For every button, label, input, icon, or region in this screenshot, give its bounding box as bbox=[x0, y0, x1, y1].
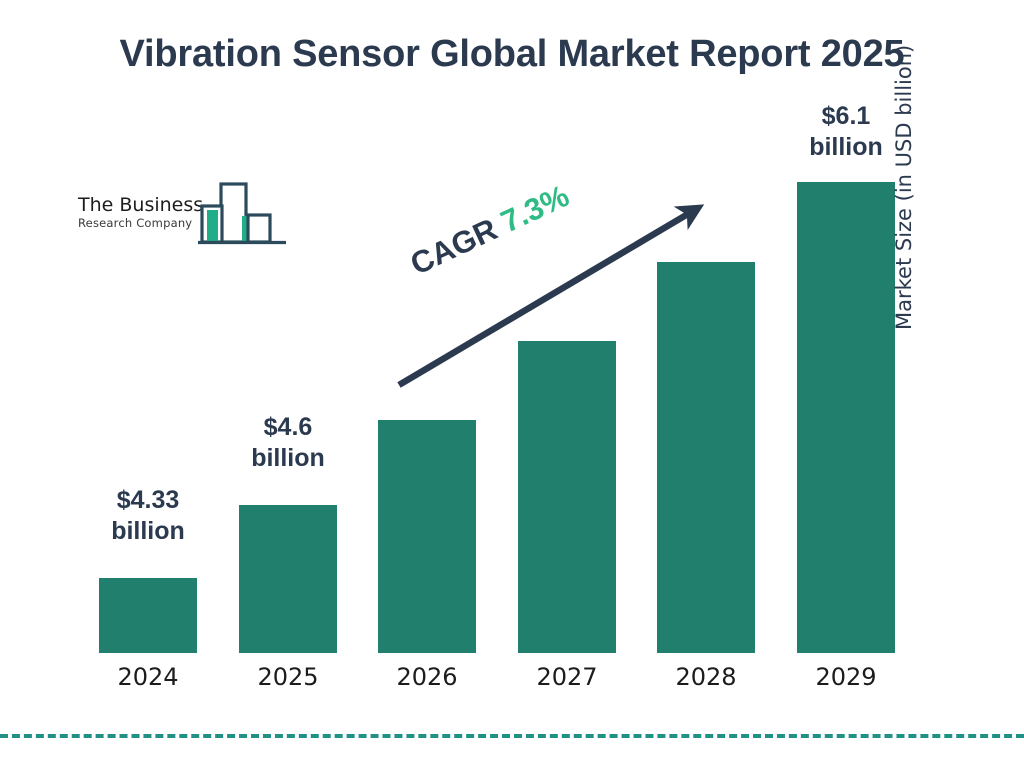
value-label-2024: $4.33 billion bbox=[83, 485, 213, 546]
x-axis-label-2027: 2027 bbox=[502, 663, 632, 691]
bar-2026 bbox=[378, 420, 476, 653]
x-axis-label-2025: 2025 bbox=[223, 663, 353, 691]
value-label-2025: $4.6 billion bbox=[223, 412, 353, 473]
plot-area: $4.33 billion $4.6 billion $6.1 billion … bbox=[0, 0, 1024, 768]
bar-2027 bbox=[518, 341, 616, 653]
footer-divider bbox=[0, 734, 1024, 738]
x-axis-label-2029: 2029 bbox=[781, 663, 911, 691]
x-axis-label-2026: 2026 bbox=[362, 663, 492, 691]
value-label-2024-unit: billion bbox=[83, 516, 213, 547]
cagr-annotation: CAGR 7.3% bbox=[405, 178, 575, 283]
x-axis-label-2028: 2028 bbox=[641, 663, 771, 691]
value-label-2025-unit: billion bbox=[223, 443, 353, 474]
cagr-label: CAGR bbox=[405, 211, 503, 281]
cagr-value: 7.3% bbox=[496, 178, 575, 240]
bar-2024 bbox=[99, 578, 197, 653]
bar-2029 bbox=[797, 182, 895, 653]
market-size-bar-chart: Vibration Sensor Global Market Report 20… bbox=[0, 0, 1024, 768]
bar-2028 bbox=[657, 262, 755, 653]
bar-2025 bbox=[239, 505, 337, 653]
y-axis-title: Market Size (in USD billion) bbox=[892, 0, 916, 330]
value-label-2025-amount: $4.6 bbox=[223, 412, 353, 443]
value-label-2024-amount: $4.33 bbox=[83, 485, 213, 516]
x-axis-label-2024: 2024 bbox=[83, 663, 213, 691]
